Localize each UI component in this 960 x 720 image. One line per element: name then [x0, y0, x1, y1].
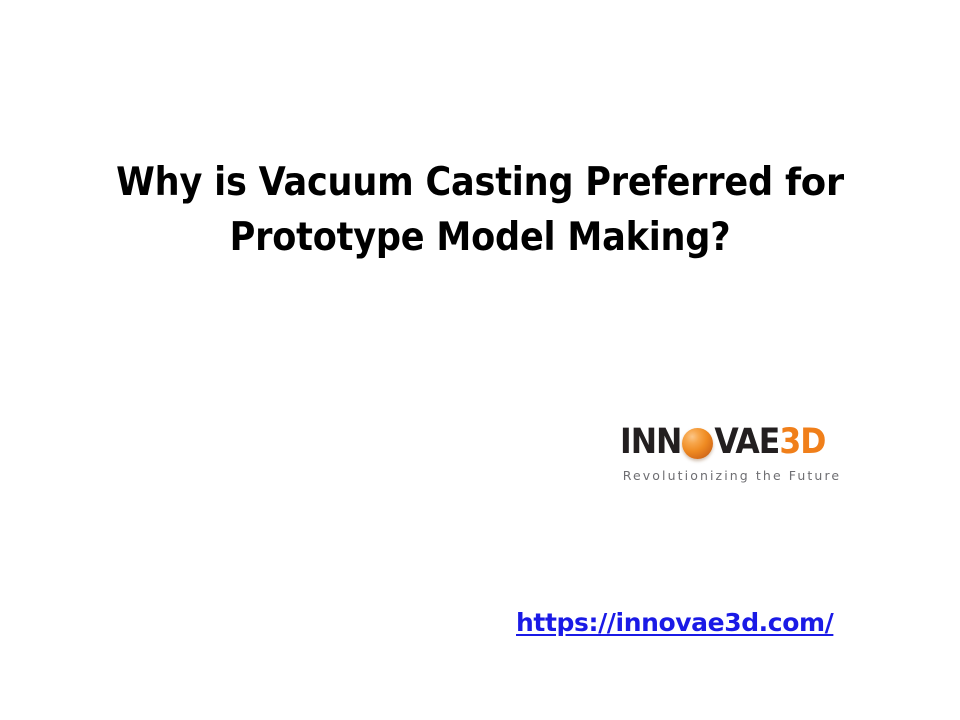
logo-text-3d: 3D	[779, 425, 825, 460]
logo-wordmark: INN VAE 3D	[620, 420, 850, 464]
title-emphasis-text: for	[785, 161, 844, 204]
title-line-2: Prototype Model Making?	[60, 215, 900, 261]
page-title: Why is Vacuum Casting Preferred for Prot…	[60, 160, 900, 261]
orange-sphere-icon	[682, 428, 713, 459]
presentation-slide: Why is Vacuum Casting Preferred for Prot…	[0, 0, 960, 720]
innovae3d-logo: INN VAE 3D Revolutionizing the Future	[620, 420, 850, 496]
logo-tagline: Revolutionizing the Future	[620, 468, 844, 483]
title-space	[773, 160, 785, 205]
title-main-text: Why is Vacuum Casting Preferred	[116, 160, 773, 205]
logo-text-inn: INN	[620, 425, 681, 460]
logo-text-vae: VAE	[714, 425, 779, 460]
website-url-link[interactable]: https://innovae3d.com/	[516, 608, 833, 637]
title-line-1: Why is Vacuum Casting Preferred for	[60, 160, 900, 206]
